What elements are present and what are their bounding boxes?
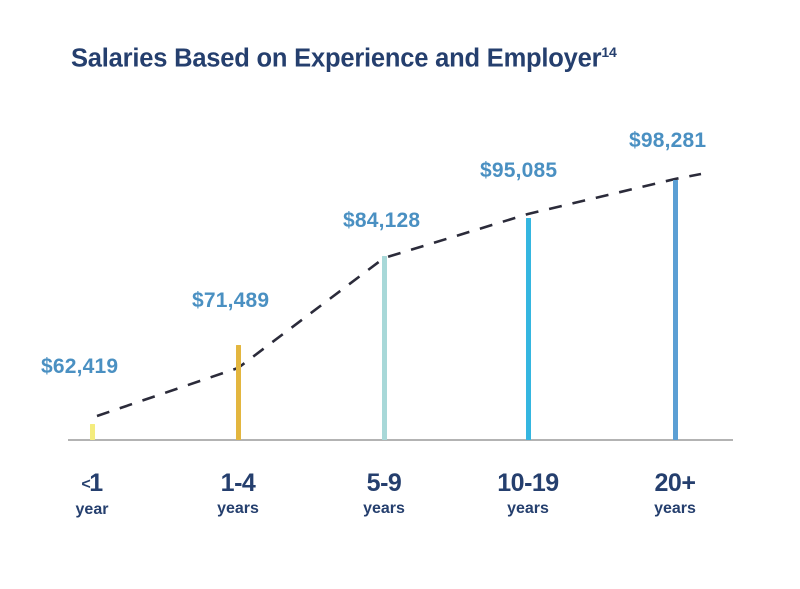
x-tick-label-0-value: <1 bbox=[32, 470, 152, 498]
value-label-3: $95,085 bbox=[480, 159, 557, 183]
x-tick-label-2-top: 5-9 bbox=[324, 470, 444, 497]
x-tick-label-0-top: 1 bbox=[89, 469, 102, 497]
x-tick-label-3: 10-19 years bbox=[468, 470, 588, 519]
bar-2 bbox=[382, 256, 387, 440]
x-tick-label-2-bottom: years bbox=[324, 499, 444, 519]
value-label-4: $98,281 bbox=[629, 129, 706, 153]
bar-1 bbox=[236, 345, 241, 440]
plot-area: $62,419 $71,489 $84,128 $95,085 $98,281 … bbox=[0, 0, 800, 589]
x-axis-line bbox=[68, 439, 733, 441]
x-tick-label-1-top: 1-4 bbox=[178, 470, 298, 497]
bar-4 bbox=[673, 180, 678, 440]
x-tick-label-0-bottom: year bbox=[32, 500, 152, 520]
x-tick-label-3-top: 10-19 bbox=[468, 470, 588, 497]
x-tick-label-4-bottom: years bbox=[615, 499, 735, 519]
value-label-2: $84,128 bbox=[343, 209, 420, 233]
x-tick-label-3-bottom: years bbox=[468, 499, 588, 519]
x-tick-label-1-bottom: years bbox=[178, 499, 298, 519]
x-tick-label-4: 20+ years bbox=[615, 470, 735, 519]
chart-container: Salaries Based on Experience and Employe… bbox=[0, 0, 800, 589]
bar-3 bbox=[526, 218, 531, 440]
x-tick-label-0: <1 year bbox=[32, 470, 152, 520]
x-tick-label-2: 5-9 years bbox=[324, 470, 444, 519]
value-label-0: $62,419 bbox=[41, 355, 118, 379]
x-tick-label-4-top: 20+ bbox=[615, 470, 735, 497]
value-label-1: $71,489 bbox=[192, 289, 269, 313]
x-tick-label-1: 1-4 years bbox=[178, 470, 298, 519]
bar-0 bbox=[90, 424, 95, 440]
